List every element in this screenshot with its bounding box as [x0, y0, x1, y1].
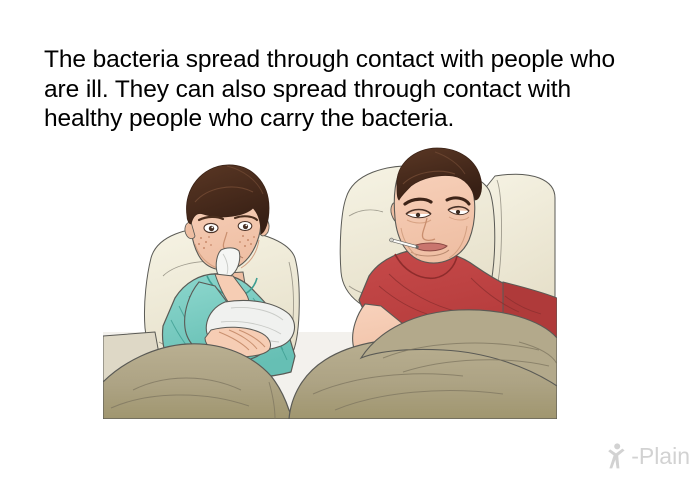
- page-root: The bacteria spread through contact with…: [0, 0, 700, 480]
- page-title: The bacteria spread through contact with…: [44, 45, 640, 134]
- illustration-sick-father-and-son: [103, 146, 557, 419]
- illustration-svg: [103, 146, 557, 419]
- x-plain-logo: -Plain: [606, 440, 690, 472]
- x-plain-wordmark: -Plain: [631, 445, 690, 468]
- x-plain-person-icon: [606, 443, 630, 469]
